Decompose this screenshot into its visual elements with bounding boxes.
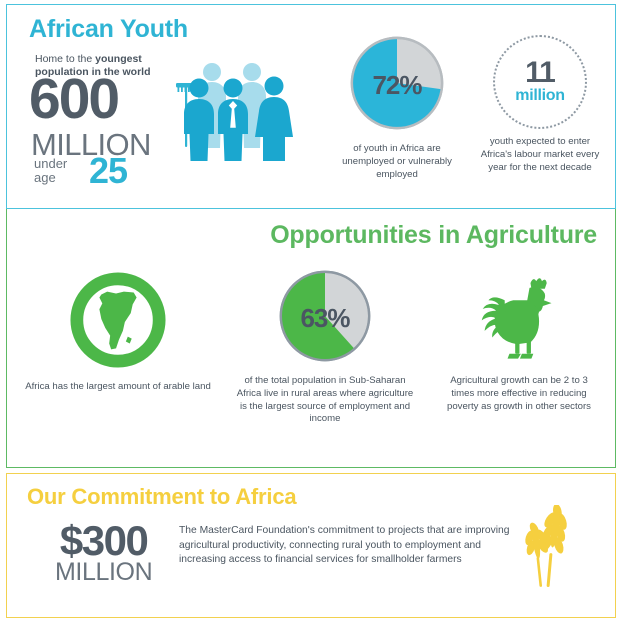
youth-age-value: 25 bbox=[89, 153, 127, 189]
pie-63-caption: of the total population in Sub-Saharan A… bbox=[235, 375, 415, 426]
pie-chart-72: 72% bbox=[349, 35, 445, 136]
dotted-circle-11-million: 11 million bbox=[493, 35, 587, 129]
panel-opportunities-agriculture: Opportunities in Agriculture Africa has … bbox=[6, 209, 616, 468]
infographic-root: African Youth Home to the youngest popul… bbox=[0, 0, 622, 625]
pie-chart-63: 63% bbox=[278, 269, 372, 368]
age-label: age bbox=[34, 170, 56, 185]
panel-title-african-youth: African Youth bbox=[29, 17, 188, 42]
wheat-icon bbox=[518, 505, 588, 595]
circle-11-unit: million bbox=[515, 87, 564, 105]
youth-lead-plain: Home to the bbox=[35, 53, 95, 65]
stat-youth-labour-market: 11 million youth expected to enter Afric… bbox=[477, 35, 603, 174]
stat-youth-unemployment: 72% of youth in Africa are unemployed or… bbox=[337, 35, 457, 181]
commitment-amount-block: $300 MILLION bbox=[55, 522, 152, 583]
commitment-amount-unit: MILLION bbox=[55, 561, 152, 584]
circle-11-caption: youth expected to enter Africa's labour … bbox=[477, 136, 603, 174]
agricultural-growth-caption: Agricultural growth can be 2 to 3 times … bbox=[439, 375, 599, 413]
rooster-icon bbox=[439, 271, 599, 368]
africa-ring-icon bbox=[23, 271, 213, 374]
commitment-amount: $300 bbox=[55, 522, 152, 560]
panel-title-agriculture: Opportunities in Agriculture bbox=[270, 223, 597, 248]
stat-arable-land: Africa has the largest amount of arable … bbox=[23, 271, 213, 394]
panel-african-youth: African Youth Home to the youngest popul… bbox=[6, 4, 616, 209]
stat-agricultural-growth: Agricultural growth can be 2 to 3 times … bbox=[439, 271, 599, 413]
arable-land-caption: Africa has the largest amount of arable … bbox=[23, 381, 213, 394]
pie-72-caption: of youth in Africa are unemployed or vul… bbox=[337, 143, 457, 181]
circle-11-number: 11 bbox=[525, 59, 555, 88]
youth-lead-bold-1: youngest bbox=[95, 53, 142, 65]
pie-63-value: 63% bbox=[278, 302, 372, 333]
youth-big-number: 600 bbox=[29, 73, 118, 125]
commitment-body-text: The MasterCard Foundation's commitment t… bbox=[179, 524, 514, 568]
panel-title-commitment: Our Commitment to Africa bbox=[27, 486, 296, 508]
stat-rural-population: 63% of the total population in Sub-Sahar… bbox=[235, 269, 415, 426]
youth-under-age-label: under age bbox=[34, 157, 67, 184]
pie-72-value: 72% bbox=[349, 69, 445, 100]
people-group-icon bbox=[173, 61, 295, 166]
